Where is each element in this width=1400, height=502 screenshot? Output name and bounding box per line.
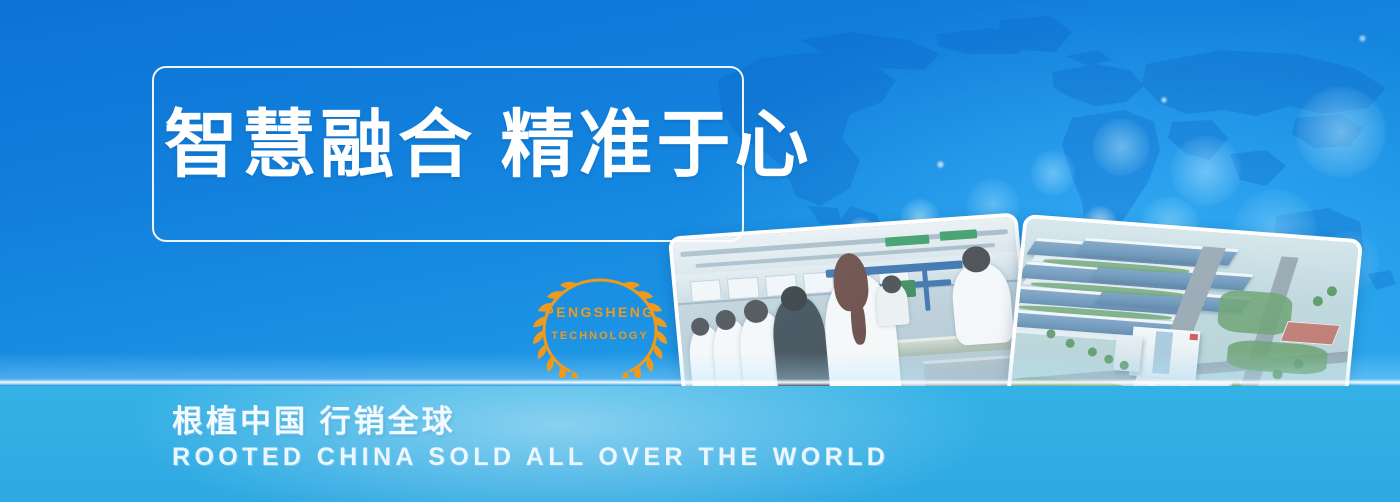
- pengsheng-laurel-badge: PENGSHENG TECHNOLOGY: [516, 272, 684, 378]
- badge-company-name: PENGSHENG: [516, 304, 684, 320]
- laurel-wreath-icon: [516, 272, 684, 378]
- tagline-english: ROOTED CHINA SOLD ALL OVER THE WORLD: [172, 443, 889, 472]
- badge-company-subtitle: TECHNOLOGY: [516, 330, 684, 342]
- page-title: 智慧融合 精准于心: [164, 108, 744, 182]
- horizontal-divider-line: [0, 379, 1400, 386]
- tagline-chinese: 根植中国 行销全球: [172, 396, 456, 441]
- divider-glow: [0, 352, 1400, 382]
- promotional-banner: 智慧融合 精准于心: [0, 0, 1400, 502]
